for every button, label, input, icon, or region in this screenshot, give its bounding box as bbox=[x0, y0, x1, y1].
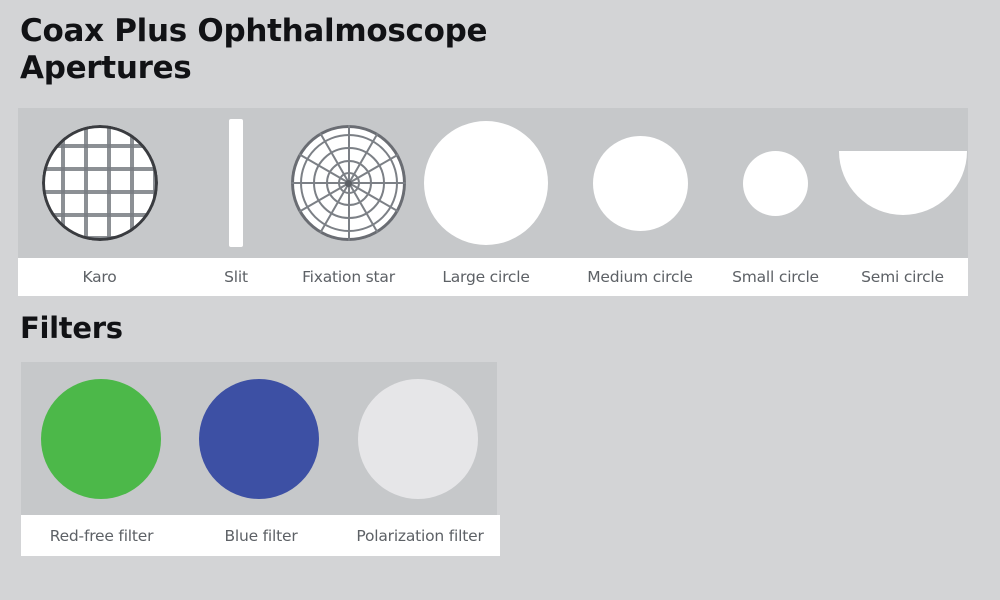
polarization-filter-icon bbox=[358, 379, 478, 499]
grid-aperture-icon bbox=[42, 125, 158, 241]
filters-tile-row bbox=[21, 362, 497, 515]
aperture-label-medium-circle: Medium circle bbox=[566, 268, 714, 286]
aperture-label-large-circle: Large circle bbox=[406, 268, 566, 286]
filters-panel bbox=[21, 362, 497, 515]
apertures-label-strip: Karo Slit Fixation star Large circle Med… bbox=[18, 258, 968, 296]
filter-tile-polarization[interactable] bbox=[338, 362, 497, 515]
aperture-tile-slit[interactable] bbox=[181, 108, 291, 258]
medium-circle-aperture-icon bbox=[593, 136, 688, 231]
slit-aperture-icon bbox=[229, 119, 243, 247]
aperture-label-fixation-star: Fixation star bbox=[291, 268, 406, 286]
aperture-label-semi-circle: Semi circle bbox=[837, 268, 968, 286]
apertures-tile-row bbox=[18, 108, 968, 258]
filter-label-polarization: Polarization filter bbox=[340, 527, 500, 545]
aperture-tile-semi-circle[interactable] bbox=[837, 108, 968, 258]
fixation-star-aperture-icon bbox=[291, 125, 406, 241]
large-circle-aperture-icon bbox=[424, 121, 548, 245]
filter-label-red-free: Red-free filter bbox=[21, 527, 182, 545]
filter-label-blue: Blue filter bbox=[182, 527, 340, 545]
aperture-tile-karo[interactable] bbox=[18, 108, 181, 258]
aperture-label-karo: Karo bbox=[18, 268, 181, 286]
aperture-tile-large-circle[interactable] bbox=[406, 108, 566, 258]
green-filter-icon bbox=[41, 379, 161, 499]
apertures-panel bbox=[18, 108, 968, 258]
filter-tile-red-free[interactable] bbox=[21, 362, 180, 515]
aperture-tile-fixation-star[interactable] bbox=[291, 108, 406, 258]
filters-section-title: Filters bbox=[20, 311, 123, 345]
small-circle-aperture-icon bbox=[743, 151, 808, 216]
aperture-tile-small-circle[interactable] bbox=[714, 108, 837, 258]
page-title: Coax Plus Ophthalmoscope Apertures bbox=[20, 13, 660, 86]
fixation-hub bbox=[345, 180, 352, 187]
blue-filter-icon bbox=[199, 379, 319, 499]
filter-tile-blue[interactable] bbox=[180, 362, 338, 515]
aperture-tile-medium-circle[interactable] bbox=[566, 108, 714, 258]
semi-circle-aperture-icon bbox=[839, 151, 967, 215]
aperture-label-slit: Slit bbox=[181, 268, 291, 286]
aperture-label-small-circle: Small circle bbox=[714, 268, 837, 286]
filters-label-strip: Red-free filter Blue filter Polarization… bbox=[21, 515, 500, 556]
